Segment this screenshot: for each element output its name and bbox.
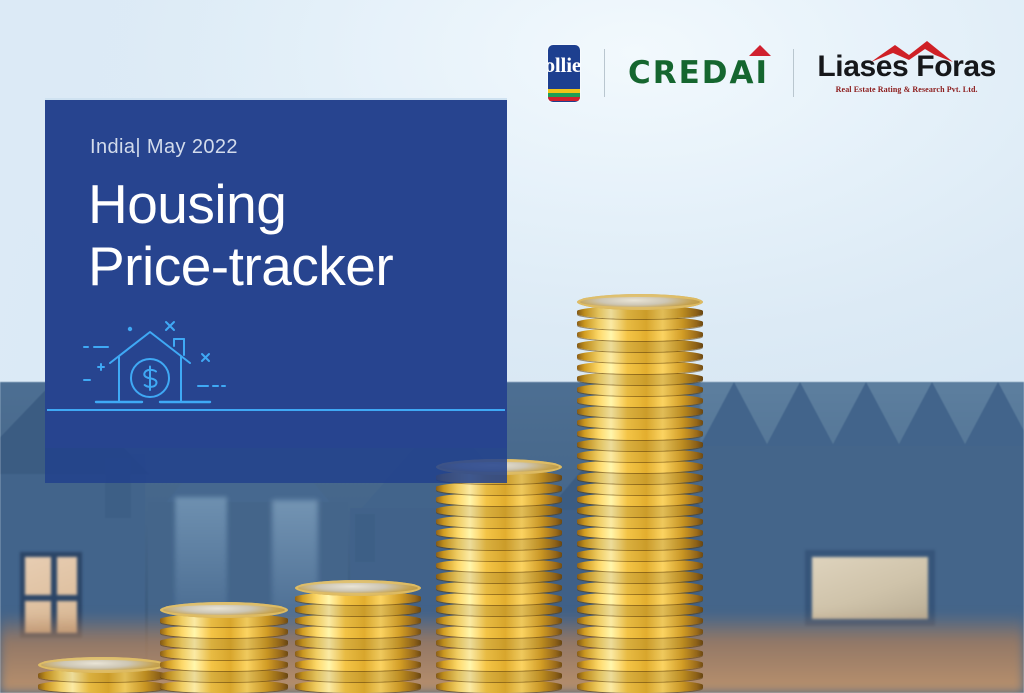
house-with-dollar-coin-icon	[78, 316, 228, 408]
coin-stack-3	[295, 568, 421, 693]
credai-logo[interactable]: CREDAI	[628, 55, 769, 91]
coin-stack-4	[436, 455, 562, 693]
roof-triangle	[700, 382, 768, 446]
coin-top-face	[295, 580, 421, 596]
liases-foras-logo[interactable]: Liases Foras Real Estate Rating & Resear…	[817, 52, 996, 94]
roof-triangle	[964, 382, 1024, 446]
page-title-line-2: Price-tracker	[88, 236, 488, 298]
credai-roof-icon	[749, 45, 771, 56]
roof-triangle	[898, 382, 966, 446]
coin-stack-5	[577, 291, 703, 693]
roof-triangle	[832, 382, 900, 446]
colliers-color-bars	[548, 89, 580, 102]
colliers-bar-red	[548, 97, 580, 101]
colliers-wordmark: Colliers	[548, 45, 580, 89]
coin-stack-1	[38, 645, 166, 693]
chimney	[355, 514, 375, 562]
report-eyebrow: India| May 2022	[90, 136, 238, 159]
coin-top-face	[577, 294, 703, 310]
panel-divider-rule	[47, 409, 505, 411]
liases-mountain-icon	[869, 41, 955, 68]
page-title-line-1: Housing	[88, 174, 488, 236]
coin-stack-2	[160, 600, 288, 693]
liases-tagline: Real Estate Rating & Research Pvt. Ltd.	[836, 85, 978, 94]
logo-bar: Colliers CREDAI Liases Foras Real Estate…	[548, 42, 996, 104]
colliers-logo[interactable]: Colliers	[548, 45, 580, 102]
title-panel-lower-overlay	[45, 448, 507, 483]
coin-top-face	[38, 657, 166, 673]
coin-top-face	[160, 602, 288, 618]
page-title: Housing Price-tracker	[88, 174, 488, 297]
roof-triangle	[766, 382, 834, 446]
credai-wordmark: CREDAI	[628, 55, 769, 91]
